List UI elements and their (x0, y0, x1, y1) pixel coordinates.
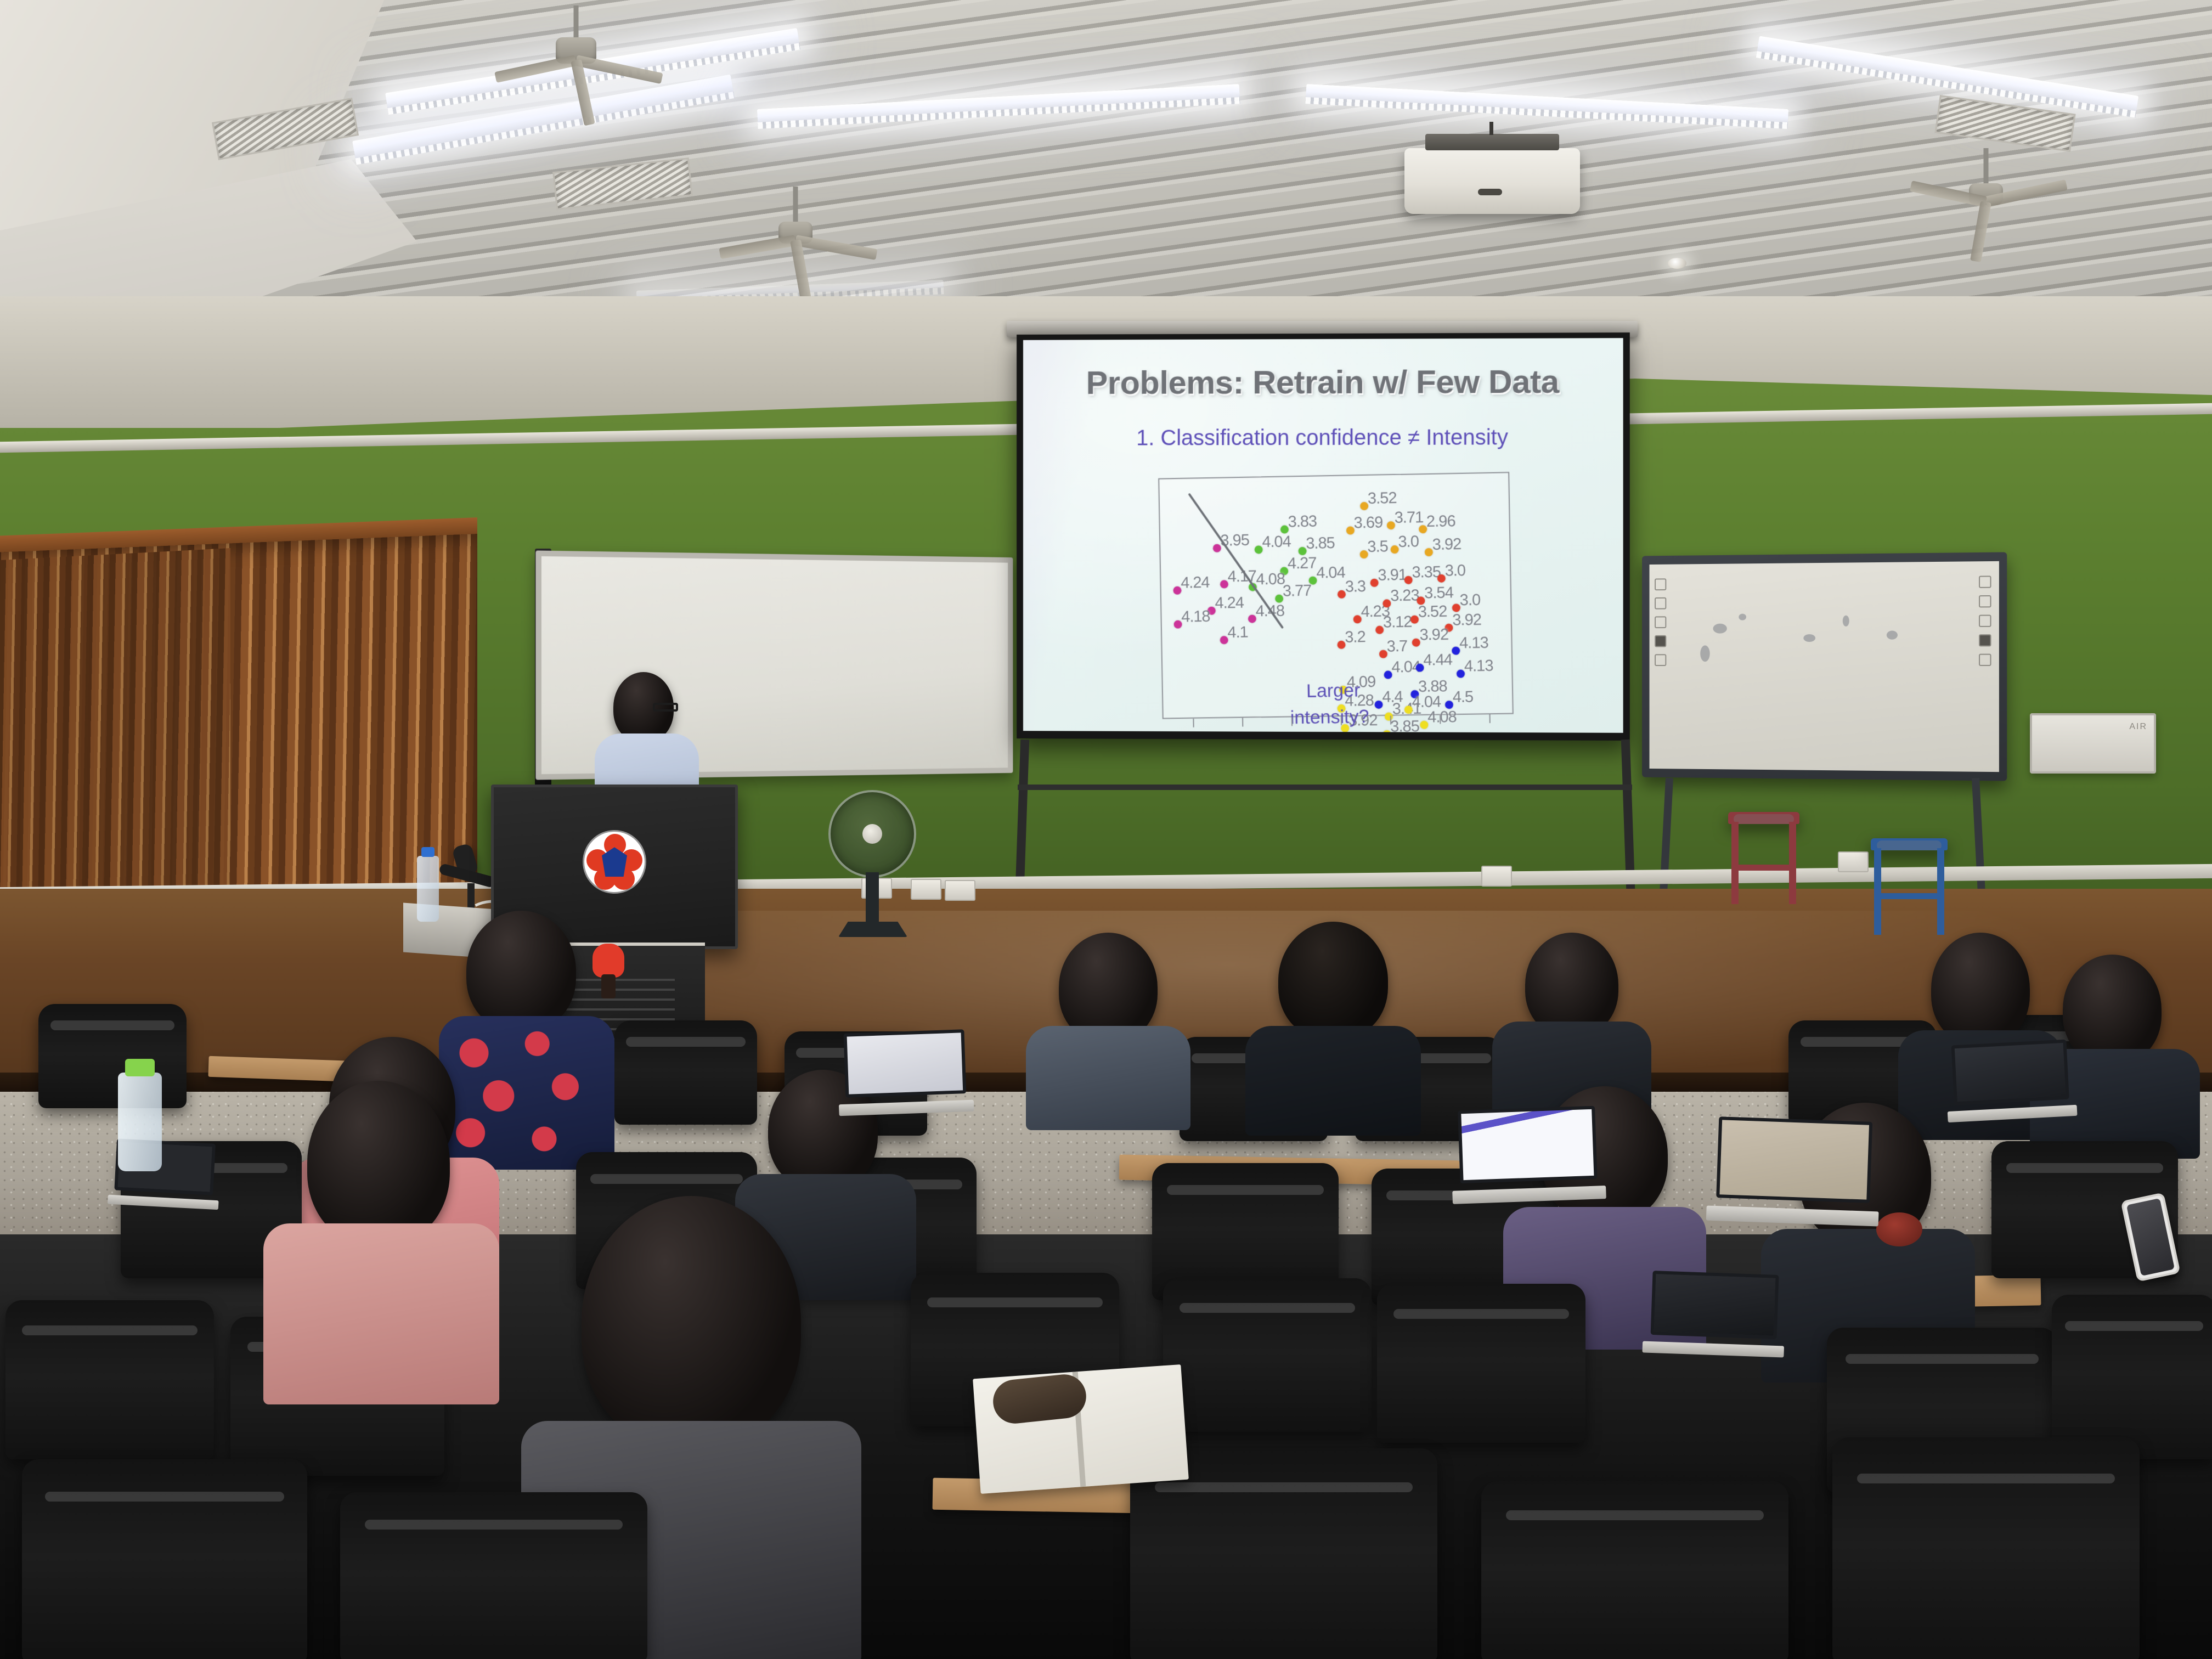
scatter-point-magenta-cluster-4 (1174, 620, 1182, 629)
scatter-point-yellow-cluster-5 (1383, 730, 1391, 733)
audience-head-2 (1278, 922, 1388, 1040)
iwb-tool-icon-4[interactable] (1655, 635, 1666, 647)
seat-front-2[interactable] (340, 1492, 647, 1659)
iwb-tool-icon-10[interactable] (1979, 654, 1991, 666)
scatter-label-green-cluster-4: 4.08 (1256, 571, 1285, 589)
scatter-point-red-cluster-10 (1410, 616, 1419, 624)
wall-outlet-3 (945, 880, 975, 901)
scatter-point-magenta-cluster-1 (1173, 586, 1181, 595)
projected-slide: Problems: Retrain w/ Few Data 1. Classif… (1023, 338, 1623, 733)
laptop-2[interactable] (1458, 1106, 1598, 1204)
seat-row3-1[interactable] (5, 1300, 214, 1459)
wall-ac-unit: AIR (2030, 713, 2156, 774)
water-bottle-foreground (118, 1073, 162, 1171)
scatter-label-orange-cluster-2: 3.71 (1394, 509, 1423, 527)
stool-red-rung (1733, 865, 1795, 871)
iwb-toolbar-left[interactable] (1655, 578, 1668, 666)
scatter-point-magenta-cluster-6 (1220, 636, 1228, 644)
scatter-point-orange-cluster-2 (1387, 521, 1395, 529)
scatter-point-blue-cluster-3 (1457, 670, 1465, 678)
scatter-point-red-cluster-4 (1353, 615, 1362, 623)
laptop-3-lid (1716, 1116, 1872, 1203)
whiteboard-smudge-1 (1713, 624, 1727, 634)
scatter-label-red-cluster-13: 3.92 (1419, 626, 1448, 645)
stool-red-leg-left (1731, 822, 1739, 904)
scatter-label-green-cluster-5: 4.04 (1316, 564, 1345, 583)
scatter-label-red-cluster-7: 3.0 (1459, 591, 1480, 610)
downlight-3 (1668, 258, 1686, 269)
laptop-1-screen[interactable] (847, 1032, 963, 1094)
scatter-point-red-cluster-9 (1375, 626, 1384, 634)
scatter-label-magenta-cluster-1: 4.24 (1181, 574, 1210, 592)
laptop-3-screen[interactable] (1719, 1120, 1869, 1199)
scatter-label-red-cluster-11: 3.92 (1452, 611, 1481, 630)
fan-base (838, 922, 907, 937)
scatter-point-green-cluster-2 (1298, 547, 1306, 555)
water-bottle (417, 856, 439, 922)
whiteboard-smudge-4 (1887, 631, 1898, 640)
iwb-tool-icon-7[interactable] (1979, 595, 1991, 607)
stool-blue-rung (1875, 893, 1943, 899)
projector-lens (1478, 189, 1502, 195)
ceiling-fan-1 (494, 33, 658, 110)
whiteboard-smudge-5 (1700, 645, 1709, 662)
seat-front-1[interactable] (22, 1459, 307, 1659)
projector-ceiling-right (1404, 148, 1580, 214)
fan-hub (862, 824, 882, 844)
iwb-tool-icon-1[interactable] (1655, 578, 1666, 590)
slide-title: Problems: Retrain w/ Few Data (1023, 362, 1623, 402)
laptop-5[interactable] (1650, 1271, 1779, 1357)
scatter-label-green-cluster-3: 4.27 (1288, 555, 1317, 573)
iwb-tool-icon-9[interactable] (1979, 634, 1991, 646)
scatter-plot-frame: 3.954.244.174.244.184.484.13.834.043.854… (1158, 472, 1514, 719)
scatter-point-orange-cluster-6 (1425, 548, 1433, 556)
audience-body-mic-holder (439, 1016, 614, 1170)
wall-outlet-4 (1481, 866, 1512, 887)
scatter-point-green-cluster-1 (1255, 545, 1263, 554)
scatter-point-magenta-cluster-0 (1213, 544, 1221, 552)
microphone-handle[interactable] (601, 974, 616, 998)
scatter-point-green-cluster-6 (1275, 595, 1283, 603)
scatter-label-green-cluster-0: 3.83 (1288, 513, 1317, 532)
scatter-point-green-cluster-0 (1280, 525, 1289, 533)
projection-screen-frame: Problems: Retrain w/ Few Data 1. Classif… (1017, 332, 1630, 741)
laptop-4-screen[interactable] (1955, 1043, 2066, 1102)
whiteboard-smudge-2 (1739, 614, 1746, 620)
scatter-point-orange-cluster-3 (1419, 525, 1427, 533)
whiteboard-smudge-6 (1843, 616, 1849, 627)
seat-front-5[interactable] (1832, 1437, 2140, 1659)
scatter-point-blue-cluster-5 (1374, 701, 1383, 709)
audience-body-1 (1026, 1026, 1190, 1130)
scatter-point-orange-cluster-1 (1346, 526, 1355, 534)
seat-row1-2[interactable] (614, 1020, 757, 1125)
seat-row3-5[interactable] (1377, 1284, 1585, 1443)
scatter-point-red-cluster-13 (1412, 639, 1420, 647)
water-bottle-foreground-cap (125, 1059, 155, 1076)
wall-outlet-5 (1838, 851, 1869, 872)
scatter-label-red-cluster-3: 3.0 (1444, 562, 1465, 580)
scatter-label-red-cluster-0: 3.3 (1345, 578, 1365, 596)
bottle-cap (421, 847, 435, 857)
laptop-3[interactable] (1716, 1116, 1872, 1226)
audience-head-front-left (307, 1081, 450, 1245)
scatter-label-blue-cluster-6: 4.5 (1452, 688, 1473, 707)
iwb-tool-icon-6[interactable] (1979, 575, 1991, 588)
presenter-glasses (653, 703, 678, 712)
audience-body-2 (1245, 1026, 1421, 1136)
scatter-label-orange-cluster-5: 3.0 (1398, 533, 1419, 551)
scatter-label-green-cluster-6: 3.77 (1283, 582, 1312, 601)
microphone-foam-cover (592, 944, 624, 978)
scatter-point-blue-cluster-2 (1415, 664, 1424, 672)
laptop-4-lid (1951, 1040, 2069, 1105)
seat-front-4[interactable] (1481, 1481, 1788, 1659)
stool-blue[interactable] (1871, 838, 1948, 925)
laptop-1[interactable] (843, 1029, 967, 1116)
scatter-label-red-cluster-1: 3.91 (1378, 566, 1407, 585)
laptop-4[interactable] (1951, 1040, 2070, 1122)
seat-row3-7[interactable] (2052, 1295, 2212, 1459)
fan-pole (866, 872, 879, 927)
scatter-point-red-cluster-8 (1337, 641, 1345, 649)
iwb-tool-icon-2[interactable] (1655, 597, 1666, 610)
ac-unit-label: AIR (2129, 722, 2147, 732)
scatter-label-orange-cluster-1: 3.69 (1353, 513, 1383, 532)
scatter-label-blue-cluster-0: 4.13 (1459, 634, 1488, 653)
iwb-toolbar-right[interactable] (1979, 575, 1994, 666)
annotation-larger: Larger (1306, 680, 1361, 702)
scatter-point-magenta-cluster-5 (1248, 614, 1256, 623)
seat-row1-1[interactable] (38, 1004, 187, 1108)
stool-blue-leg-right (1937, 848, 1944, 935)
laptop-2-screen[interactable] (1461, 1109, 1594, 1180)
interactive-whiteboard-surface[interactable] (1650, 561, 1999, 772)
hair-scrunchie (1876, 1212, 1922, 1246)
scatter-label-blue-cluster-2: 4.44 (1423, 651, 1452, 670)
whiteboard-smudge-3 (1803, 634, 1815, 642)
scatter-point-blue-cluster-0 (1452, 647, 1460, 655)
stool-red-leg-right (1789, 822, 1796, 904)
scatter-point-magenta-cluster-2 (1220, 580, 1228, 588)
university-logo (584, 832, 645, 892)
ceiling-fan-2 (713, 219, 878, 285)
lecture-hall-photo: EPSON Problems: Retrain w/ Few Data 1. C… (0, 0, 2212, 1659)
scatter-label-orange-cluster-0: 3.52 (1368, 489, 1397, 508)
audience-head-4 (1931, 933, 2030, 1045)
stool-blue-leg-left (1874, 848, 1881, 935)
scatter-point-red-cluster-12 (1379, 650, 1387, 658)
scatter-label-red-cluster-9: 3.12 (1383, 613, 1412, 632)
scatter-point-orange-cluster-4 (1360, 550, 1368, 558)
scatter-point-red-cluster-0 (1338, 590, 1346, 599)
scatter-label-magenta-cluster-3: 4.24 (1215, 594, 1244, 613)
stool-blue-seat[interactable] (1871, 838, 1948, 850)
scatter-label-magenta-cluster-6: 4.1 (1227, 624, 1248, 642)
iwb-tool-icon-3[interactable] (1655, 616, 1666, 628)
scatter-label-red-cluster-12: 3.7 (1386, 637, 1407, 656)
scatter-label-red-cluster-5: 3.23 (1390, 586, 1419, 605)
stool-red[interactable] (1728, 812, 1799, 894)
scatter-label-red-cluster-6: 3.54 (1424, 584, 1453, 602)
seat-row3-4[interactable] (1163, 1278, 1372, 1432)
projector-mount (1425, 134, 1559, 150)
scatter-point-red-cluster-1 (1370, 579, 1379, 587)
scatter-label-red-cluster-10: 3.52 (1418, 603, 1447, 622)
scatter-point-blue-cluster-6 (1445, 701, 1453, 709)
scatter-point-red-cluster-3 (1437, 574, 1446, 583)
scatter-point-orange-cluster-5 (1391, 545, 1399, 554)
scatter-label-red-cluster-8: 3.2 (1345, 628, 1365, 647)
scatter-label-green-cluster-1: 4.04 (1262, 533, 1291, 551)
iwb-tool-icon-5[interactable] (1655, 654, 1666, 666)
scatter-label-green-cluster-2: 3.85 (1306, 534, 1335, 553)
scatter-point-blue-cluster-1 (1384, 671, 1392, 679)
handheld-microphone[interactable] (592, 944, 624, 994)
laptop-5-lid (1651, 1271, 1779, 1339)
iwb-tool-icon-8[interactable] (1979, 615, 1991, 627)
scatter-point-red-cluster-2 (1404, 576, 1413, 584)
scatter-label-red-cluster-2: 3.35 (1412, 563, 1441, 582)
scatter-label-blue-cluster-3: 4.13 (1464, 657, 1493, 676)
scatter-point-orange-cluster-0 (1360, 502, 1368, 510)
pedestal-fan (828, 790, 938, 938)
ceiling-fan-3 (1904, 181, 2068, 247)
audience-body-front-left (263, 1223, 499, 1404)
scatter-label-magenta-cluster-4: 4.18 (1181, 608, 1210, 627)
audience-head-front-center (582, 1196, 801, 1448)
scatter-label-orange-cluster-4: 3.5 (1367, 538, 1388, 556)
laptop-2-lid (1458, 1106, 1597, 1183)
screen-crossbar (1018, 785, 1632, 790)
scatter-point-red-cluster-5 (1383, 599, 1391, 607)
scatter-point-red-cluster-7 (1452, 603, 1460, 612)
audience-head-mic-holder (466, 911, 576, 1031)
audience-head-5 (2063, 955, 2162, 1064)
interactive-whiteboard[interactable] (1642, 552, 2007, 781)
slide-subtitle: 1. Classification confidence ≠ Intensity (1023, 425, 1623, 451)
scatter-label-orange-cluster-6: 3.92 (1432, 535, 1461, 554)
scatter-label-orange-cluster-3: 2.96 (1426, 512, 1455, 531)
laptop-5-screen[interactable] (1654, 1274, 1776, 1336)
laptop-1-lid (843, 1029, 966, 1098)
